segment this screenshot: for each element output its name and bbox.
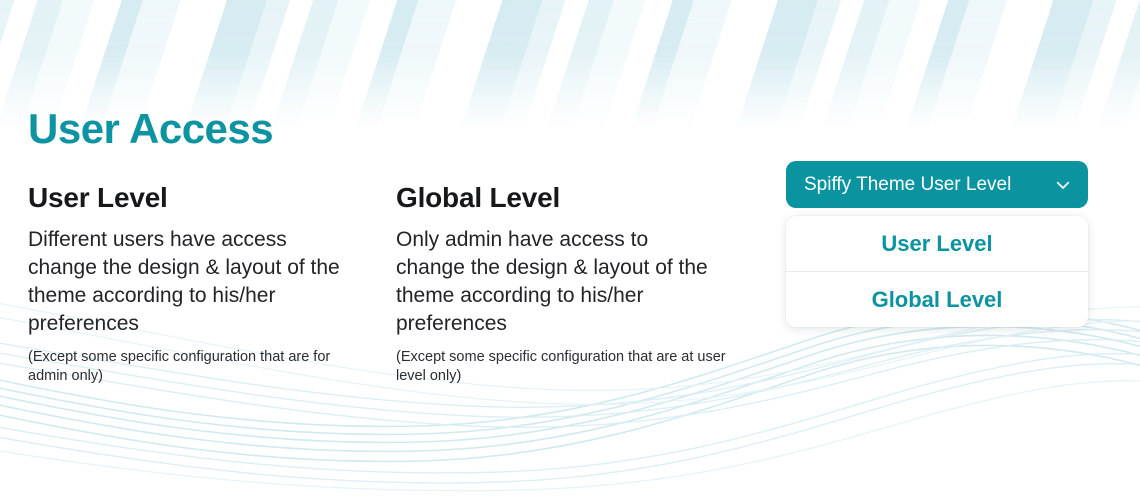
chevron-down-icon[interactable]	[1054, 176, 1072, 194]
dropdown-menu: User Level Global Level	[786, 216, 1088, 327]
column-heading-global-level: Global Level	[396, 183, 748, 214]
column-body-global-level: Only admin have access to change the des…	[396, 226, 716, 338]
column-note-global-level: (Except some specific configuration that…	[396, 348, 726, 386]
dropdown-option-user-level[interactable]: User Level	[786, 216, 1088, 271]
slide-canvas: User Access User Level Different users h…	[0, 0, 1140, 500]
slide-content: User Access User Level Different users h…	[0, 0, 1140, 500]
page-title: User Access	[28, 108, 273, 150]
dropdown-selected-label: Spiffy Theme User Level	[804, 175, 1011, 194]
dropdown-option-global-level[interactable]: Global Level	[786, 271, 1088, 327]
dropdown-toggle[interactable]: Spiffy Theme User Level	[786, 161, 1088, 208]
theme-user-level-dropdown: Spiffy Theme User Level User Level Globa…	[786, 161, 1088, 327]
column-body-user-level: Different users have access change the d…	[28, 226, 348, 338]
column-heading-user-level: User Level	[28, 183, 380, 214]
column-note-user-level: (Except some specific configuration that…	[28, 348, 358, 386]
column-user-level: User Level Different users have access c…	[28, 183, 380, 386]
column-global-level: Global Level Only admin have access to c…	[396, 183, 748, 386]
